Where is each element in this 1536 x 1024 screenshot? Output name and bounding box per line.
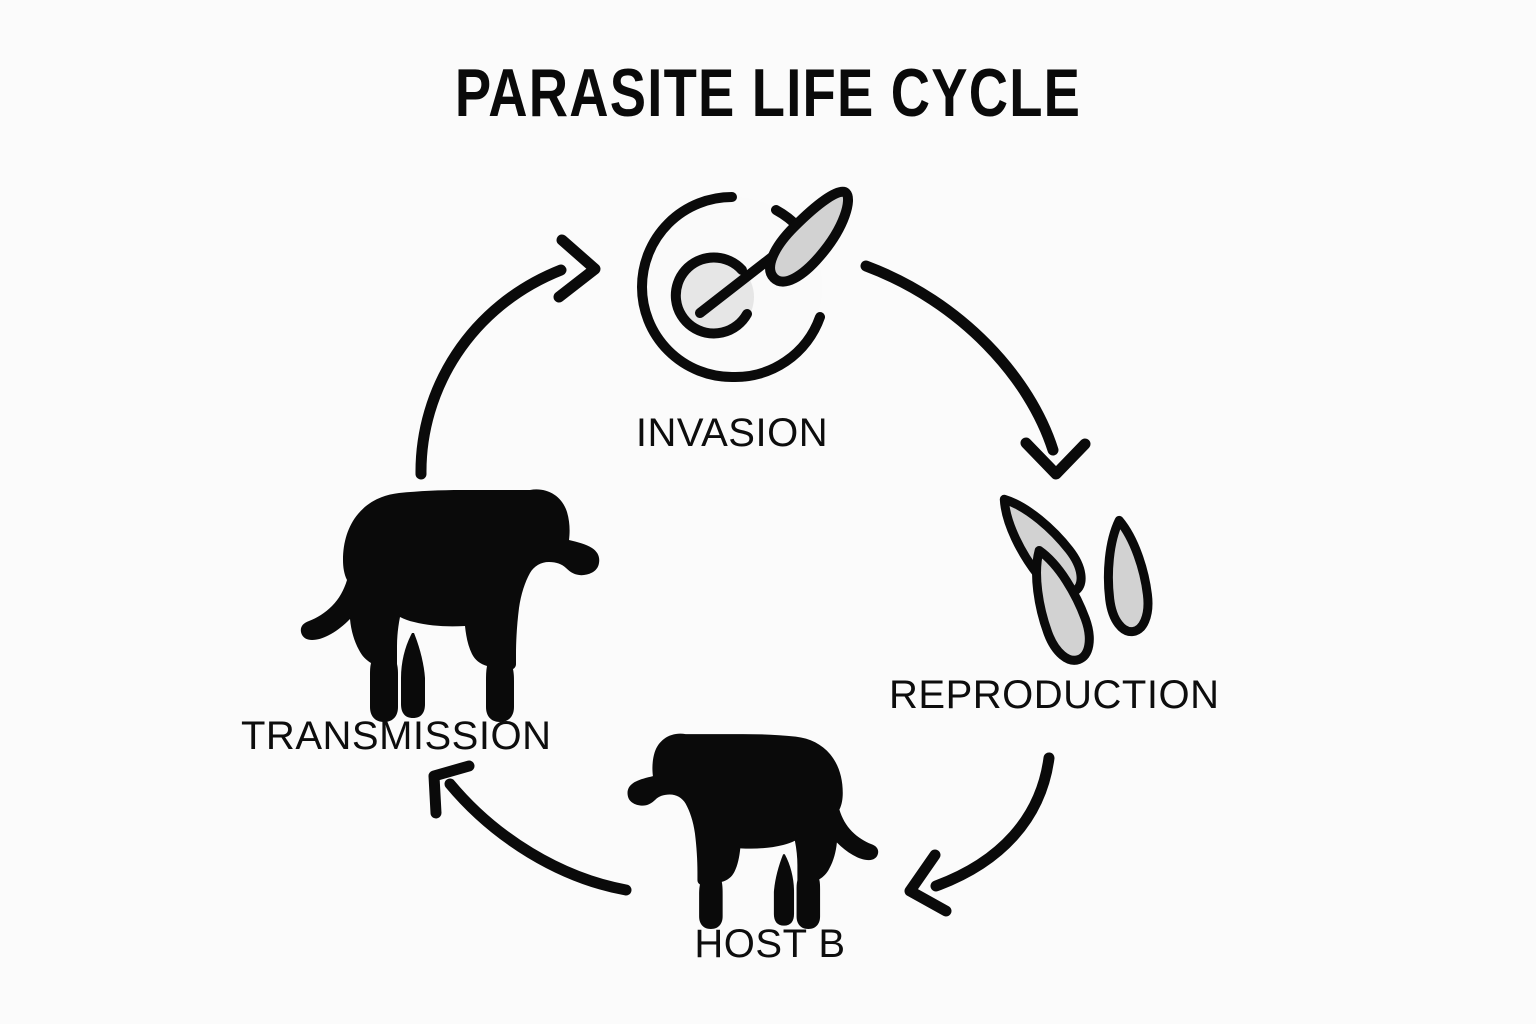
parasite-egg-3 [1100,518,1151,634]
arrow-invasion-to-reproduction [866,266,1085,474]
diagram-graphics-layer [0,0,1536,1024]
arrow-reproduction-to-host-b [910,758,1049,911]
stage-label-host-b: HOST B [625,922,915,967]
stage-label-reproduction: REPRODUCTION [889,673,1259,718]
stage-label-invasion: INVASION [567,411,897,456]
dog-silhouette-facing-left-icon [628,734,879,929]
cell-invaded-by-parasite-icon [642,192,848,377]
parasite-body [770,192,848,282]
stage-label-transmission: TRANSMISSION [241,714,621,759]
parasite-life-cycle-diagram: PARASITE LIFE CYCLE [0,0,1536,1024]
arrow-host-b-to-transmission [434,766,626,890]
three-parasites-icon [989,487,1152,666]
dog-silhouette-facing-right-icon [301,489,599,722]
